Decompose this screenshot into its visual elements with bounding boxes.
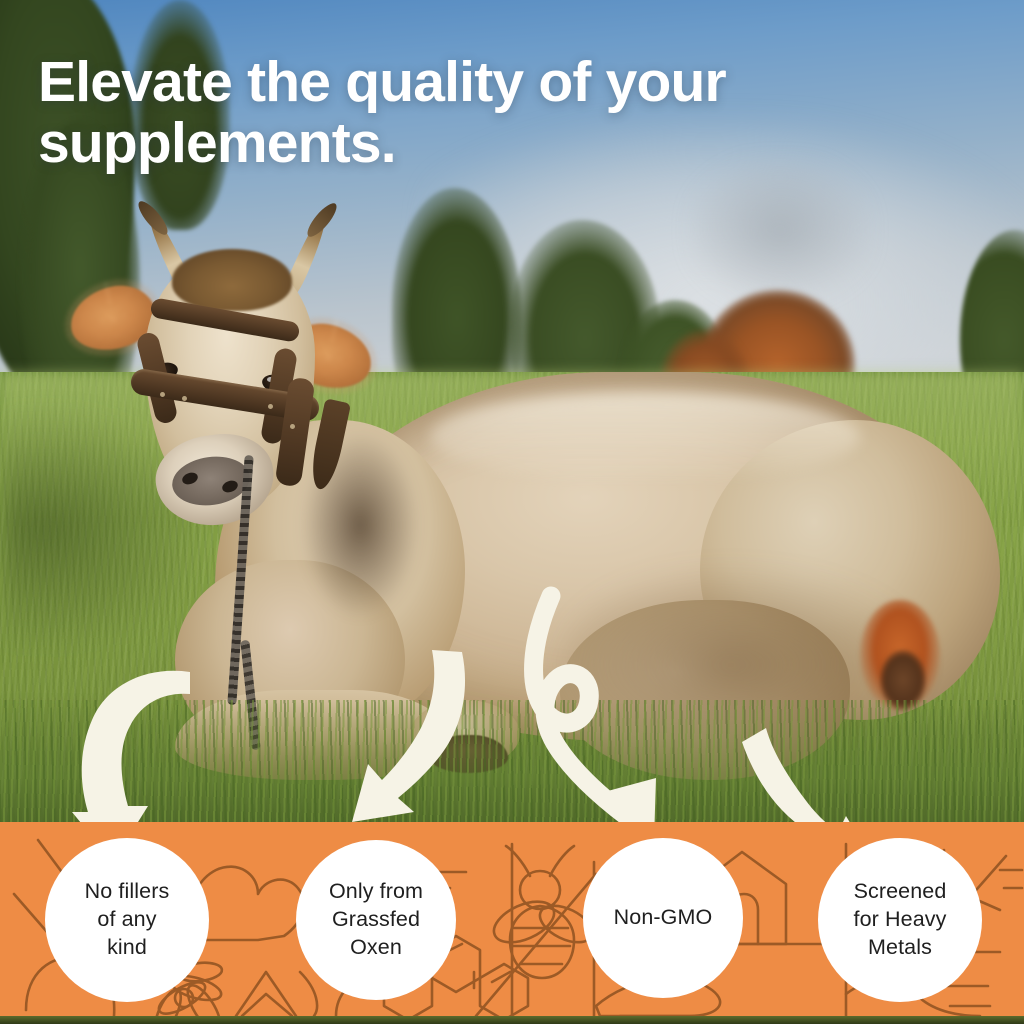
bee-outline bbox=[488, 846, 598, 978]
page-title: Elevate the quality of your supplements. bbox=[38, 52, 908, 174]
halter-rivet bbox=[160, 392, 165, 397]
diagonal-line bbox=[476, 874, 596, 1016]
benefit-circle-non-gmo[interactable]: Non-GMO bbox=[583, 838, 743, 998]
benefit-label: Non-GMO bbox=[606, 904, 721, 932]
arc-line bbox=[300, 972, 317, 1016]
benefit-label: Only fromGrassfedOxen bbox=[321, 878, 431, 962]
halter-rivet bbox=[268, 404, 273, 409]
headline-line-2: supplements. bbox=[38, 113, 908, 174]
halter-rivet bbox=[182, 396, 187, 401]
benefit-circle-heavy-metals[interactable]: Screenedfor HeavyMetals bbox=[818, 838, 982, 1002]
benefit-label: No fillersof anykind bbox=[77, 878, 178, 962]
ox-back-highlight bbox=[430, 392, 860, 482]
benefit-circle-no-fillers[interactable]: No fillersof anykind bbox=[45, 838, 209, 1002]
benefit-circle-grassfed[interactable]: Only fromGrassfedOxen bbox=[296, 840, 456, 1000]
benefit-label: Screenedfor HeavyMetals bbox=[846, 878, 955, 962]
promo-graphic: Elevate the quality of your supplements. bbox=[0, 0, 1024, 1024]
ox-forelock bbox=[172, 249, 292, 311]
bottom-photo-strip bbox=[0, 1016, 1024, 1024]
foreground-grass bbox=[0, 700, 1024, 830]
halter-rivet bbox=[290, 424, 295, 429]
headline-line-1: Elevate the quality of your bbox=[38, 52, 908, 113]
